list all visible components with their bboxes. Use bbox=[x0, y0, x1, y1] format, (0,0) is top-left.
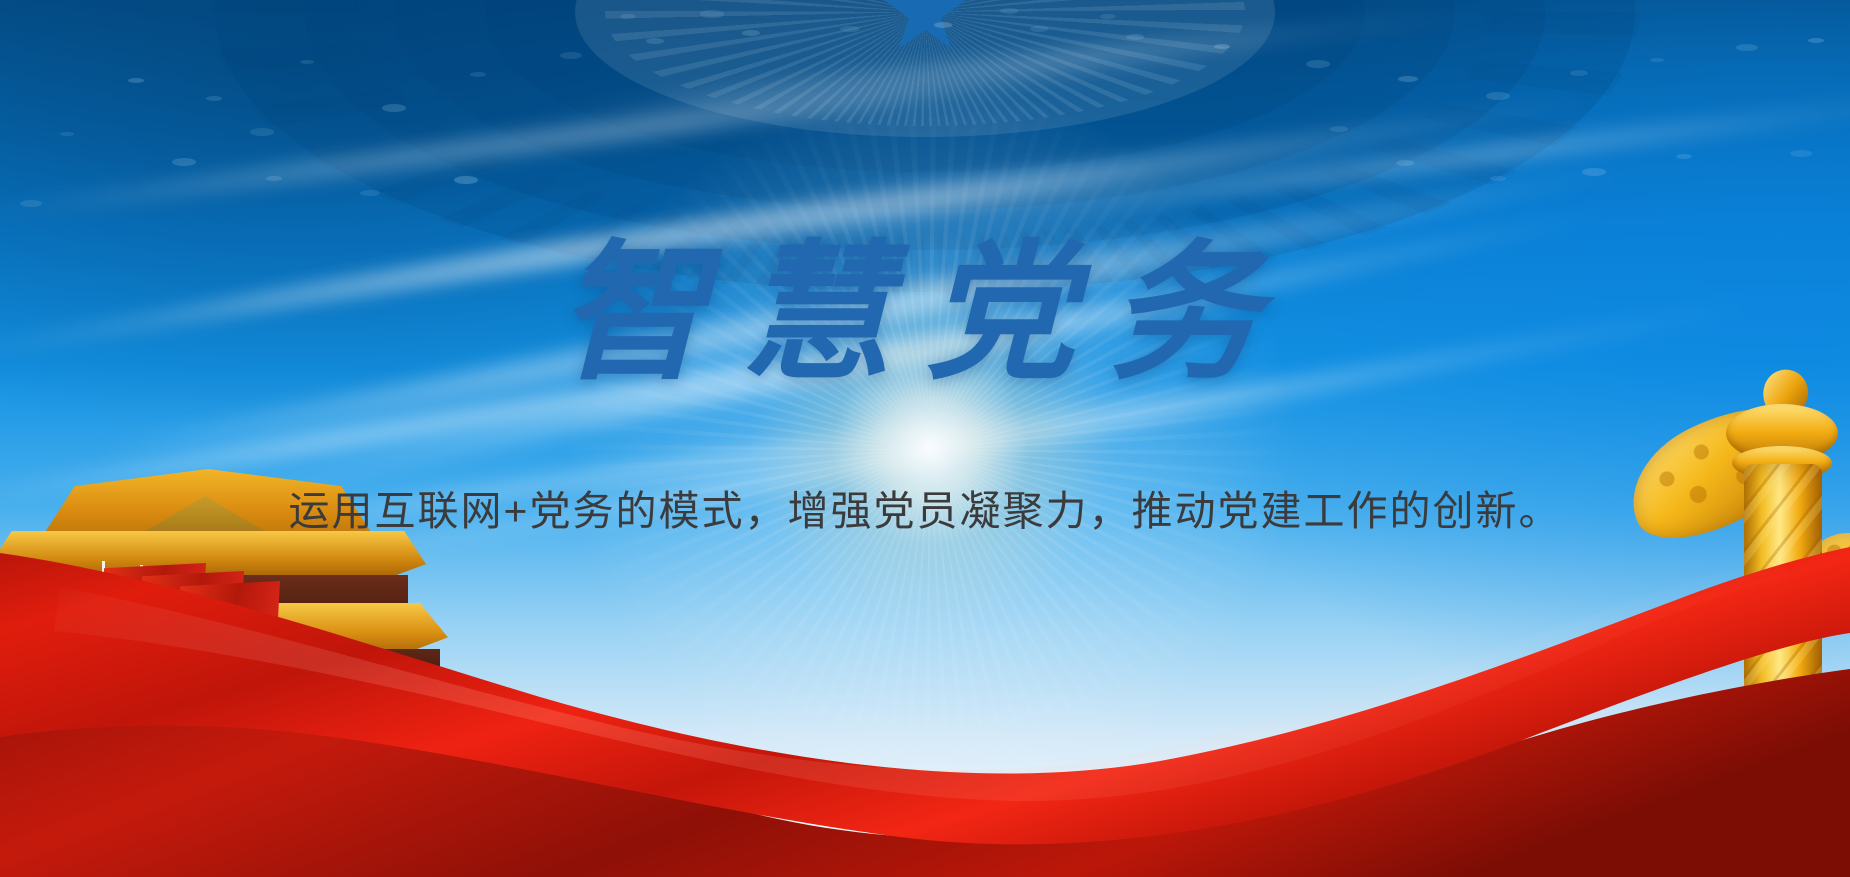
red-silk-ribbon bbox=[0, 547, 1850, 877]
dome-speckle-dot bbox=[742, 30, 760, 36]
dome-speckle-dot bbox=[382, 104, 406, 112]
dome-speckle-dot bbox=[560, 52, 582, 59]
banner-stage: 中华人民共和国万岁 世界人民大团结万岁 bbox=[0, 0, 1850, 877]
dome-speckle-dot bbox=[1790, 150, 1812, 157]
dome-speckle-dot bbox=[1030, 26, 1048, 32]
dome-speckle-dot bbox=[1570, 70, 1588, 76]
dome-speckle-dot bbox=[454, 176, 478, 184]
dome-speckle-dot bbox=[1486, 92, 1510, 100]
dome-speckle-dot bbox=[172, 158, 196, 166]
dome-speckle-dot bbox=[700, 10, 724, 18]
dome-speckle-dot bbox=[1126, 34, 1144, 40]
dome-speckle-dot bbox=[1736, 44, 1758, 51]
dome-speckle-dot bbox=[250, 128, 274, 136]
dome-speckle-dot bbox=[646, 38, 664, 44]
dome-speckle-dot bbox=[1000, 8, 1018, 14]
dome-speckle-dot bbox=[1306, 60, 1330, 68]
page-title: 智慧党务 bbox=[0, 232, 1850, 394]
dome-speckle-dot bbox=[934, 22, 952, 28]
page-subtitle: 运用互联网+党务的模式，增强党员凝聚力，推动党建工作的创新。 bbox=[0, 486, 1850, 537]
